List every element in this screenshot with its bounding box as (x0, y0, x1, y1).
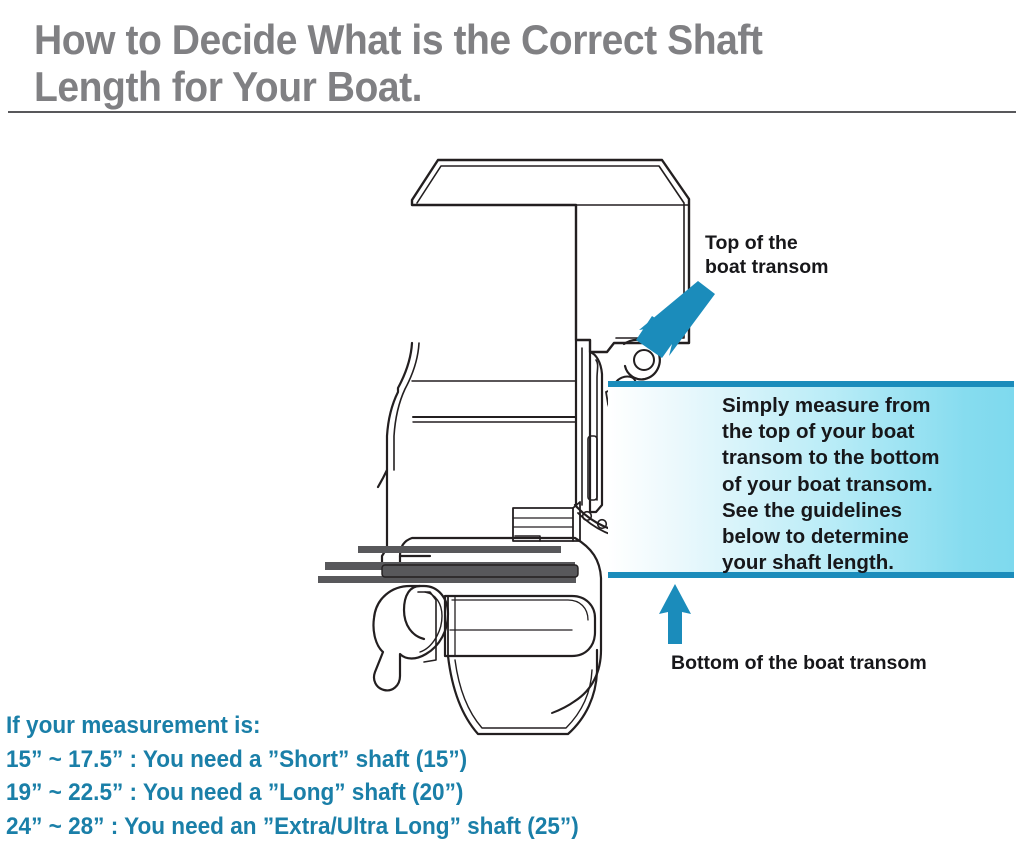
guideline-row-short: 15” ~ 17.5” : You need a ”Short” shaft (… (6, 743, 720, 777)
guideline-row-extra-long: 24” ~ 28” : You need an ”Extra/Ultra Lon… (6, 810, 720, 844)
guidelines-intro: If your measurement is: (6, 709, 720, 743)
guidelines-list: If your measurement is: 15” ~ 17.5” : Yo… (6, 709, 766, 843)
engine-cowling-inner (417, 166, 684, 338)
clamp-pivot (634, 350, 654, 370)
infographic-page: How to Decide What is the Correct Shaft … (0, 0, 1024, 851)
guideline-row-long: 19” ~ 22.5” : You need a ”Long” shaft (2… (6, 776, 720, 810)
lower-leg-outline (382, 470, 430, 574)
lower-cowl (378, 343, 412, 487)
callout-top-bar (608, 381, 1014, 387)
propeller-hub (373, 586, 448, 690)
top-transom-label: Top of the boat transom (705, 231, 829, 279)
swivel-bracket (590, 352, 602, 512)
propeller-blade-upper (404, 586, 424, 639)
engine-cowling-outer (412, 160, 689, 352)
bottom-transom-label: Bottom of the boat transom (671, 651, 927, 675)
cavitation-plate-upper (358, 546, 561, 553)
callout-text: Simply measure from the top of your boat… (722, 393, 1012, 576)
anti-ventilation-plate (382, 565, 578, 577)
gearcase (445, 596, 595, 656)
callout-box: Simply measure from the top of your boat… (608, 381, 1014, 579)
lower-cowl-inner (394, 343, 419, 470)
gearcase-inner-line (452, 600, 588, 620)
